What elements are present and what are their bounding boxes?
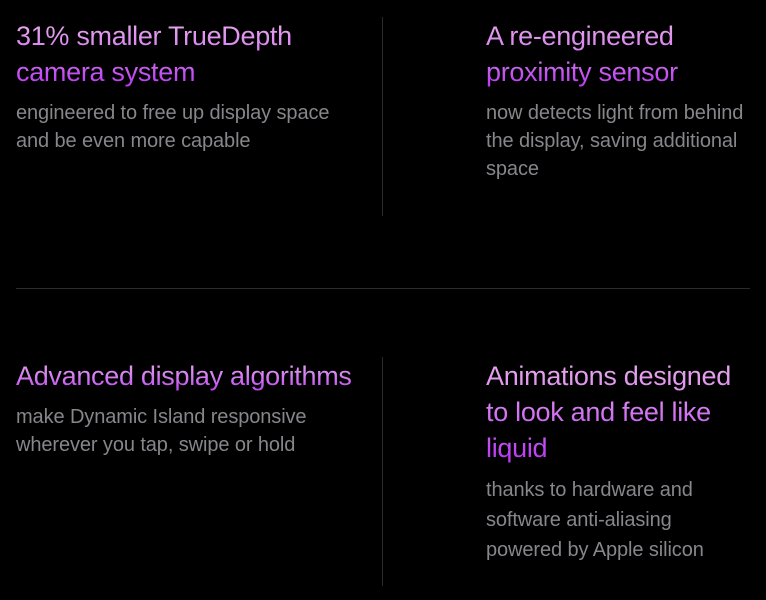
feature-highlights-page: 31% smaller TrueDepth camera system engi… [0, 0, 766, 600]
feature-card-proximity-sensor: A re-engineered proximity sensor now det… [486, 18, 748, 183]
feature-card-display-algorithms: Advanced display algorithms make Dynamic… [16, 358, 356, 459]
feature-headline: 31% smaller TrueDepth camera system [16, 18, 356, 92]
feature-body: now detects light from behind the displa… [486, 99, 748, 183]
feature-headline: Advanced display algorithms [16, 358, 356, 396]
divider-vertical-top [382, 17, 383, 216]
feature-body: engineered to free up display space and … [16, 99, 356, 155]
feature-headline: Animations designed to look and feel lik… [486, 358, 748, 468]
divider-horizontal [16, 288, 750, 289]
divider-vertical-bottom [382, 357, 383, 586]
feature-card-truedepth-camera: 31% smaller TrueDepth camera system engi… [16, 18, 356, 155]
feature-body: thanks to hardware and software anti-ali… [486, 475, 748, 565]
feature-headline: A re-engineered proximity sensor [486, 18, 748, 92]
feature-grid: 31% smaller TrueDepth camera system engi… [0, 0, 766, 600]
feature-body: make Dynamic Island responsive wherever … [16, 403, 356, 459]
feature-card-animations: Animations designed to look and feel lik… [486, 358, 748, 565]
